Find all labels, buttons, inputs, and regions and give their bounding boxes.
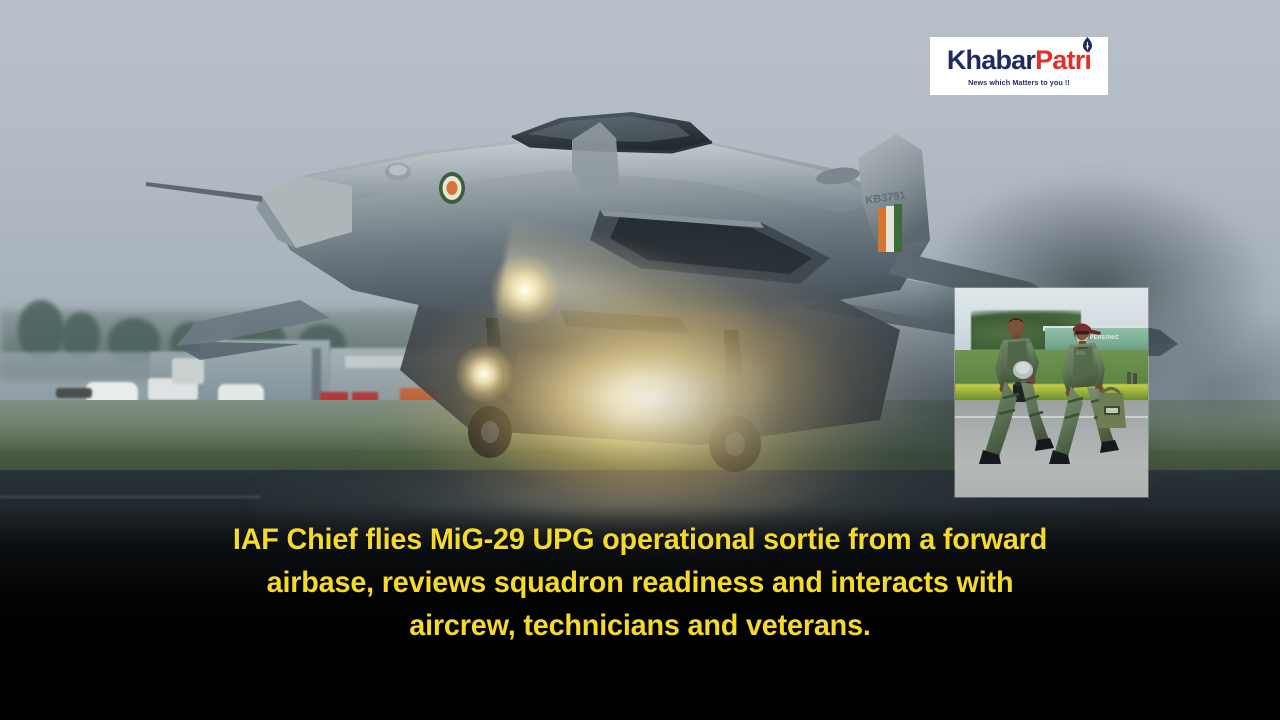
pen-nib-icon xyxy=(1082,37,1093,52)
khabarpatri-logo[interactable]: Khabar Patri News which Matters to you !… xyxy=(930,37,1108,95)
caption-line-1: IAF Chief flies MiG-29 UPG operational s… xyxy=(26,518,1255,561)
logo-wordmark: Khabar Patri xyxy=(947,47,1091,74)
logo-text-khabar: Khabar xyxy=(947,47,1035,74)
caption-line-3: aircrew, technicians and veterans. xyxy=(26,604,1255,647)
caption-line-2: airbase, reviews squadron readiness and … xyxy=(26,561,1255,604)
news-graphic-stage: KB3791 xyxy=(0,0,1280,720)
caption-block: IAF Chief flies MiG-29 UPG operational s… xyxy=(0,518,1280,647)
sun-flare-point xyxy=(455,345,513,403)
logo-tagline: News which Matters to you !! xyxy=(968,78,1070,87)
inset-pilots-figures xyxy=(955,288,1148,497)
inset-photo-pilots: T SUPERSONIC xyxy=(955,288,1148,497)
sun-flare-point xyxy=(490,255,560,325)
pilot-figure-right xyxy=(1049,324,1126,465)
pilot-figure-left xyxy=(979,318,1054,465)
